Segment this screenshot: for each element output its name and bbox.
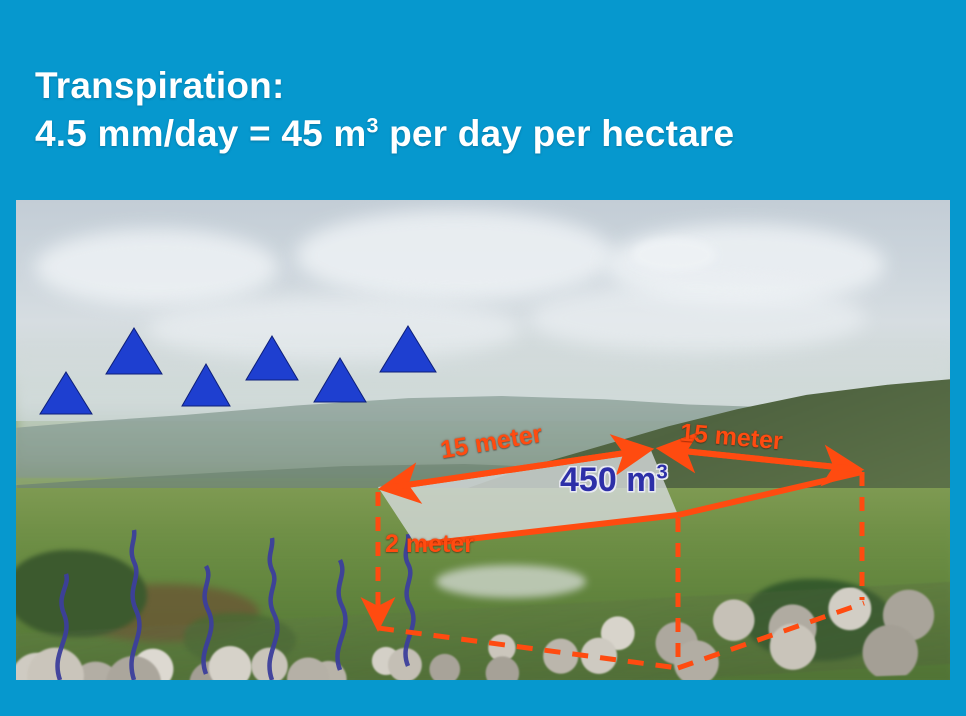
label-volume: 450 m3 [560, 461, 668, 500]
bottom-edge-left-front [378, 628, 678, 668]
pond-bottom-face [378, 603, 864, 668]
label-volume-superscript: 3 [656, 462, 667, 484]
title-line-1: Transpiration: [35, 62, 935, 110]
slide-root: Transpiration: 4.5 mm/day = 45 m3 per da… [0, 0, 966, 716]
title-line-2: 4.5 mm/day = 45 m3 per day per hectare [35, 110, 935, 158]
transpiration-arrows [58, 530, 414, 680]
title-line-2-main: 4.5 mm/day = 45 m [35, 113, 366, 154]
label-depth: 2 meter [385, 530, 474, 559]
top-edge-front-right [678, 472, 862, 515]
transpiration-stem [203, 566, 211, 674]
transpiration-triangle-icon [182, 364, 230, 406]
page-title: Transpiration: 4.5 mm/day = 45 m3 per da… [35, 62, 935, 158]
transpiration-triangle-icon [106, 328, 162, 374]
bottom-edge-front-right [678, 603, 864, 668]
transpiration-triangles [40, 326, 436, 414]
transpiration-stem [337, 560, 345, 670]
title-line-2-superscript: 3 [366, 114, 378, 138]
label-volume-value: 450 m [560, 461, 656, 499]
transpiration-triangle-icon [380, 326, 436, 372]
transpiration-triangle-icon [314, 358, 366, 402]
transpiration-stem [269, 538, 277, 680]
transpiration-stem [58, 574, 67, 680]
transpiration-stem [131, 530, 139, 680]
transpiration-triangle-icon [40, 372, 92, 414]
transpiration-triangle-icon [246, 336, 298, 380]
title-line-2-tail: per day per hectare [379, 113, 735, 154]
